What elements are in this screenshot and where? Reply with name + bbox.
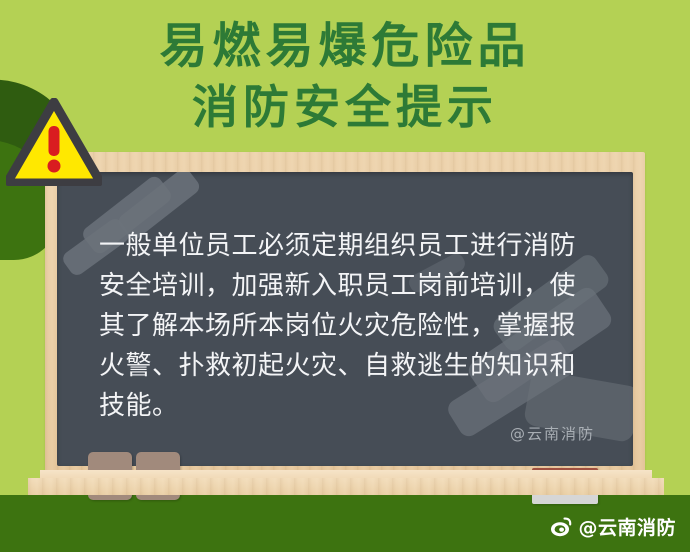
blackboard-body-text: 一般单位员工必须定期组织员工进行消防安全培训，加强新入职员工岗前培训，使其了解本… (99, 226, 599, 426)
poster-title: 易燃易爆危险品 消防安全提示 (0, 22, 690, 130)
brand-name: @云南消防 (578, 513, 676, 540)
title-line-1: 易燃易爆危险品 (0, 22, 690, 70)
warning-triangle-icon (6, 98, 102, 186)
blackboard-ledge (28, 478, 664, 495)
fire-safety-poster: 易燃易爆危险品 消防安全提示 一般单位员工必须定期组织员工进行消防安全培训，加强… (0, 0, 690, 552)
blackboard: 一般单位员工必须定期组织员工进行消防安全培训，加强新入职员工岗前培训，使其了解本… (45, 152, 645, 482)
title-line-2: 消防安全提示 (0, 84, 690, 130)
blackboard-surface: 一般单位员工必须定期组织员工进行消防安全培训，加强新入职员工岗前培训，使其了解本… (57, 172, 633, 466)
weibo-icon (550, 516, 572, 538)
blackboard-watermark: @云南消防 (510, 423, 595, 444)
footer-brand: @云南消防 (550, 513, 676, 540)
